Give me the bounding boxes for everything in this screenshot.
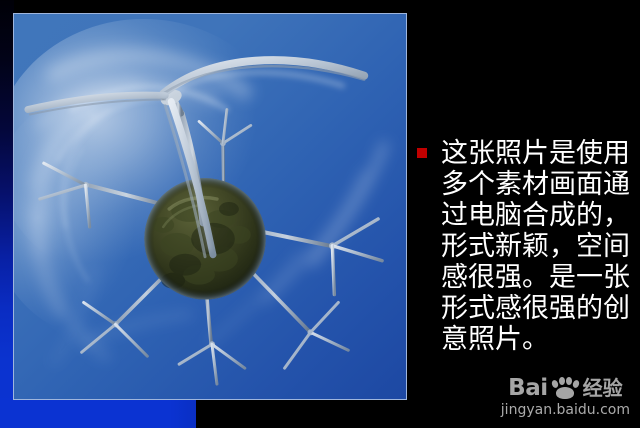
text-line: 过电脑合成的， [441, 200, 640, 231]
watermark-brand-cn: 经验 [583, 377, 623, 400]
body-text: 这张照片是使用 多个素材画面通 过电脑合成的， 形式新颖，空间 感很强。是一张 … [441, 138, 640, 355]
text-line: 形式感很强的创 [441, 293, 640, 324]
left-accent-strip [0, 0, 14, 428]
baidu-jingyan-watermark: Bai 经验 jingyan.baidu.com [501, 376, 630, 418]
tiny-planet-illustration [14, 14, 406, 399]
presentation-slide: 这张照片是使用 多个素材画面通 过电脑合成的， 形式新颖，空间 感很强。是一张 … [0, 0, 640, 428]
bullet-square-icon [417, 148, 427, 158]
tiny-planet-photo [14, 14, 406, 399]
text-line: 感很强。是一张 [441, 262, 640, 293]
text-line: 意照片。 [441, 324, 640, 355]
paw-print-icon [550, 377, 580, 400]
photo-frame [13, 13, 407, 400]
watermark-brand-latin: Bai [508, 377, 547, 400]
watermark-url: jingyan.baidu.com [501, 402, 630, 418]
bottom-accent-band [0, 398, 196, 428]
text-line: 多个素材画面通 [441, 169, 640, 200]
text-line: 这张照片是使用 [441, 138, 640, 169]
watermark-brand-row: Bai 经验 [501, 376, 630, 401]
text-line: 形式新颖，空间 [441, 231, 640, 262]
